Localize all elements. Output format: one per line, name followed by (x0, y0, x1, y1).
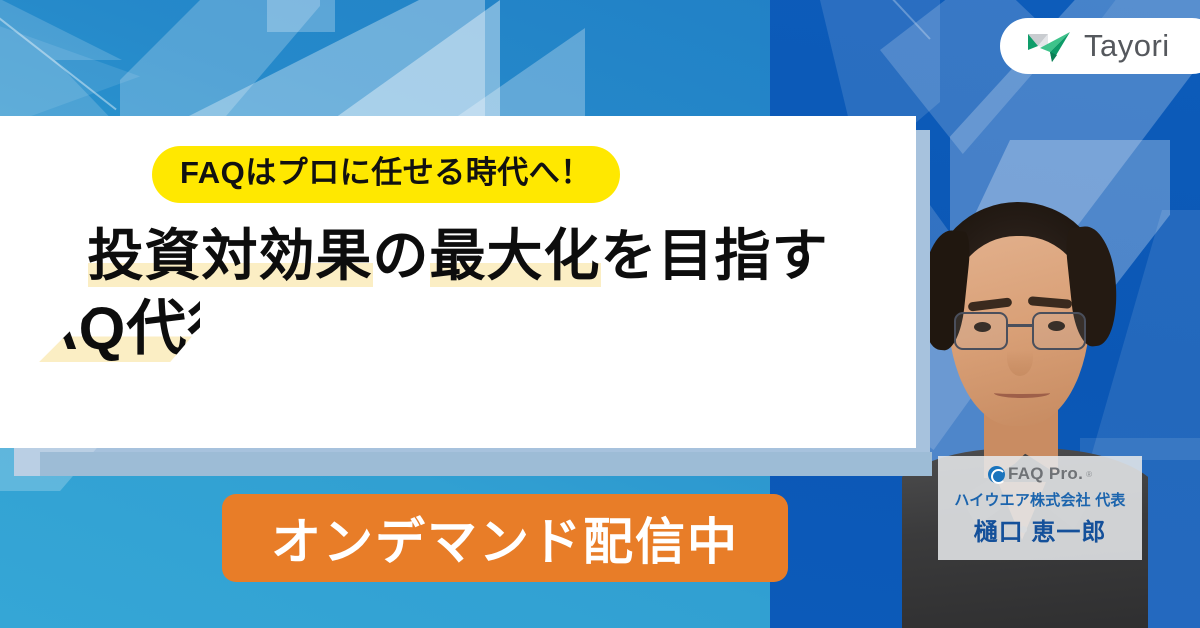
faq-pro-logo-text: FAQ Pro. (1008, 464, 1083, 484)
portrait-mouth (994, 388, 1050, 398)
speaker-portrait (902, 196, 1148, 628)
faq-pro-logo: FAQ Pro. ® (938, 462, 1142, 486)
glasses-lens-right (1032, 312, 1086, 350)
cta-button[interactable]: オンデマンド配信中 (222, 494, 788, 582)
cta-button-label: オンデマンド配信中 (271, 502, 739, 574)
headline-block: 投資対効果の最大化を目指す FAQ代行とは？ (0, 220, 916, 491)
headline-plain-1d: を目指す (601, 224, 829, 287)
eyebrow-badge: FAQはプロに任せる時代へ！ (152, 146, 620, 203)
paper-plane-mail-icon (1026, 28, 1072, 64)
speaker-name-plate: FAQ Pro. ® ハイウエア株式会社 代表 樋口 恵一郎 (938, 456, 1142, 560)
decorative-band (40, 452, 932, 476)
headline-highlight-1a: 投資対効果 (88, 224, 373, 287)
glasses-lens-left (954, 312, 1008, 350)
headline-line-1: 投資対効果の最大化を目指す (0, 220, 916, 291)
brand-logo-text: Tayori (1084, 28, 1170, 64)
portrait-nose (1007, 340, 1033, 376)
registered-trademark-icon: ® (1086, 470, 1092, 479)
webinar-banner: FAQはプロに任せる時代へ！ 投資対効果の最大化を目指す FAQ代行とは？ オン… (0, 0, 1200, 628)
speaker-organization: ハイウエア株式会社 代表 (938, 489, 1142, 510)
headline-plain-2b: とは？ (248, 295, 431, 362)
faq-pro-logo-icon (988, 466, 1005, 483)
glasses-bridge (1008, 324, 1032, 327)
brand-logo-badge[interactable]: Tayori (1000, 18, 1200, 74)
headline-plain-1b: の (373, 224, 430, 287)
speaker-name: 樋口 恵一郎 (938, 512, 1142, 547)
headline-highlight-2a: FAQ代行 (0, 295, 248, 362)
headline-highlight-1c: 最大化 (430, 224, 601, 287)
eyebrow-badge-label: FAQはプロに任せる時代へ！ (180, 154, 592, 193)
